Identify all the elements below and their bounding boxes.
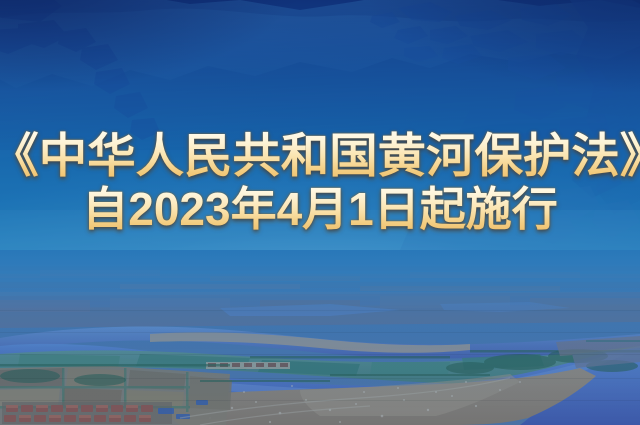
aerial-river-photo bbox=[0, 250, 640, 425]
title-line-effective-date: 自2023年4月1日起施行 bbox=[0, 182, 640, 236]
poster-image: 《中华人民共和国黄河保护法》 自2023年4月1日起施行 bbox=[0, 0, 640, 425]
title-line-law-name: 《中华人民共和国黄河保护法》 bbox=[0, 128, 640, 184]
poster-title: 《中华人民共和国黄河保护法》 自2023年4月1日起施行 bbox=[0, 128, 640, 236]
